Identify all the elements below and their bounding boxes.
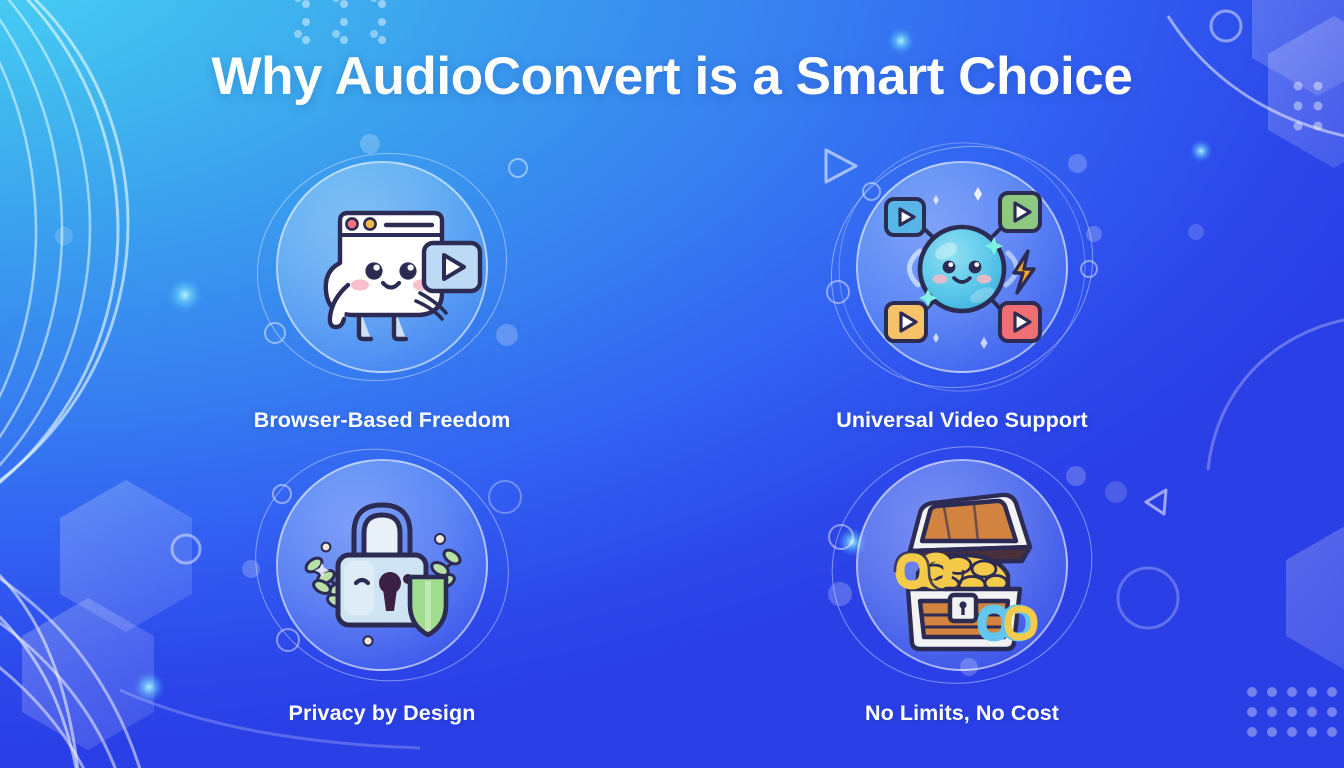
accent-ring-tiny [508,158,528,178]
accent-dot-bottomleft [828,582,852,606]
feature-card-browser-based-freedom[interactable]: Browser-Based Freedom [92,132,672,442]
accent-ring-right [1080,260,1098,278]
accent-dot-top [360,134,380,154]
icon-container [232,132,532,402]
feature-card-universal-video-support[interactable]: Universal Video Support [672,132,1252,442]
feature-label: Universal Video Support [836,408,1088,433]
accent-dot-topright [1066,466,1086,486]
icon-container [812,132,1112,402]
video-formats-planet-icon [862,167,1062,367]
feature-label: No Limits, No Cost [865,701,1059,726]
browser-window-character-icon [282,167,482,367]
page-title: Why AudioConvert is a Smart Choice [0,46,1344,107]
accent-ring-right [488,480,522,514]
feature-label: Browser-Based Freedom [254,408,511,433]
slide-content: Why AudioConvert is a Smart Choice [0,0,1344,768]
feature-card-no-limits-no-cost[interactable]: No Limits, No Cost [672,442,1252,752]
padlock-shield-leaves-icon [282,465,482,665]
accent-dot-midright [1086,226,1102,242]
accent-dot-topright [1068,154,1087,173]
accent-dot-left [242,560,260,578]
icon-container [812,442,1112,687]
icon-container [232,442,532,687]
feature-label: Privacy by Design [289,701,476,726]
accent-ring-left [828,524,854,550]
accent-dot-right [496,324,518,346]
feature-grid: Browser-Based Freedom [92,132,1252,752]
treasure-chest-infinity-icon [862,465,1062,665]
feature-card-privacy-by-design[interactable]: Privacy by Design [92,442,672,752]
accent-ring-left [826,280,850,304]
slide-canvas: Why AudioConvert is a Smart Choice [0,0,1344,768]
